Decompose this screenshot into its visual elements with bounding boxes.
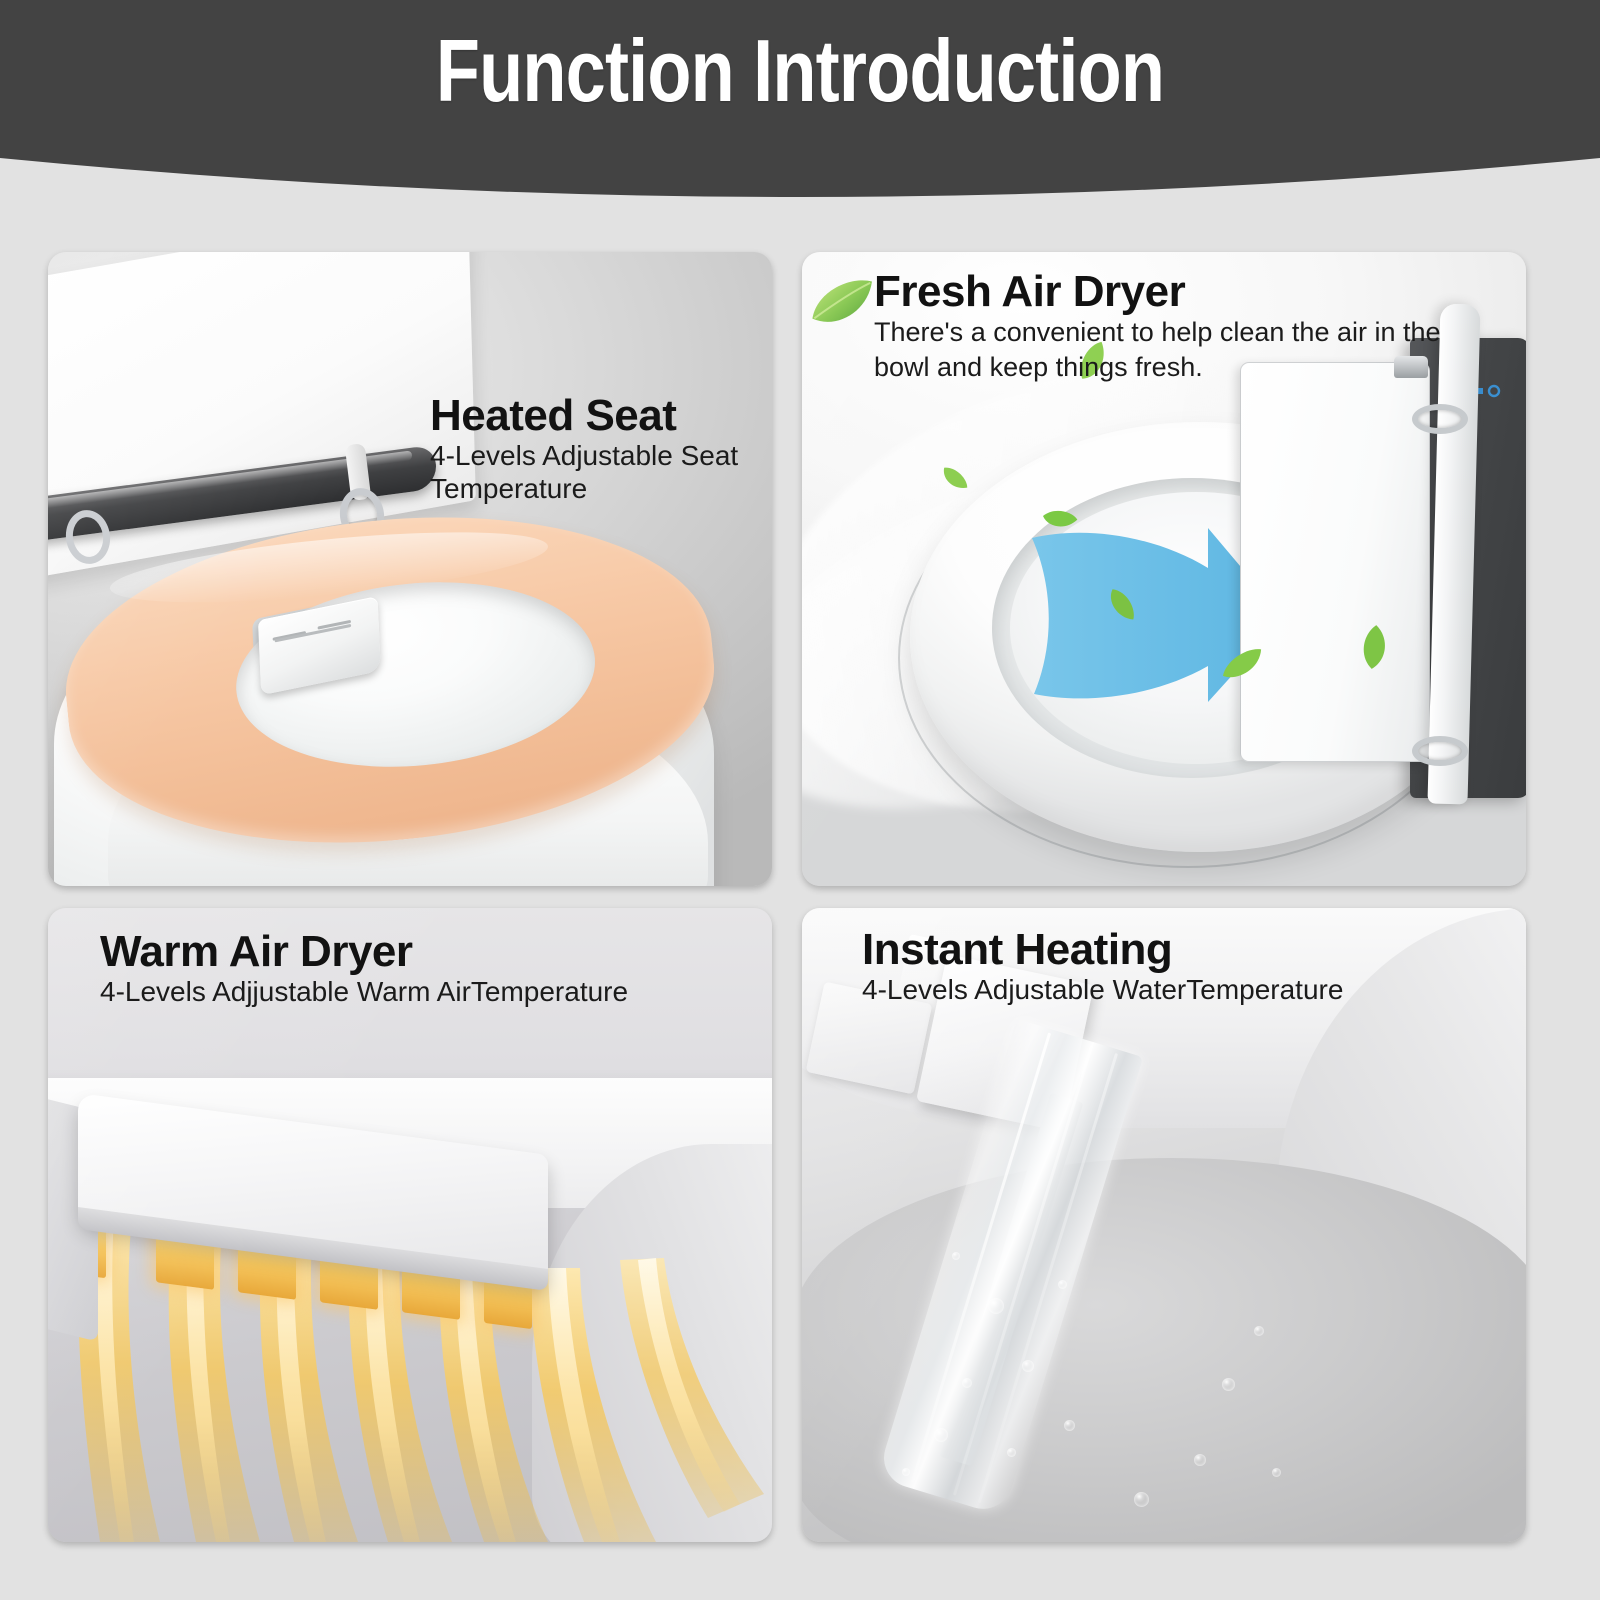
feature-panel-fresh-air-dryer[interactable]: Fresh Air Dryer There's a convenient to … bbox=[802, 252, 1526, 886]
water-droplet-7 bbox=[902, 1468, 910, 1476]
fresh-air-dryer-subtitle: There's a convenient to help clean the a… bbox=[874, 315, 1474, 385]
page-header: Function Introduction bbox=[0, 0, 1600, 220]
feature-panel-warm-air-dryer[interactable]: Warm Air Dryer 4-Levels Adjjustable Warm… bbox=[48, 908, 772, 1542]
nozzle-slit-1 bbox=[273, 631, 306, 641]
water-droplet-6 bbox=[1064, 1420, 1075, 1431]
water-droplet-9 bbox=[1254, 1326, 1264, 1336]
water-droplet-3 bbox=[962, 1378, 972, 1388]
nozzle-slit-2 bbox=[318, 620, 351, 630]
fresh-air-dryer-caption: Fresh Air Dryer There's a convenient to … bbox=[874, 270, 1474, 385]
water-droplet-2 bbox=[1022, 1360, 1034, 1372]
feature-panel-instant-heating[interactable]: Instant Heating 4-Levels Adjustable Wate… bbox=[802, 908, 1526, 1542]
water-droplet-11 bbox=[1134, 1492, 1149, 1507]
hinge-ring-top-icon bbox=[1412, 404, 1468, 434]
leaf-icon-7 bbox=[1356, 622, 1393, 671]
water-droplet-13 bbox=[1058, 1280, 1067, 1289]
hinge-ring-bottom-icon bbox=[1412, 736, 1468, 766]
page-title: Function Introduction bbox=[144, 22, 1456, 121]
instant-heating-caption: Instant Heating 4-Levels Adjustable Wate… bbox=[862, 928, 1482, 1006]
warm-air-dryer-title: Warm Air Dryer bbox=[100, 930, 740, 975]
heated-seat-subtitle: 4-Levels Adjustable Seat Temperature bbox=[430, 439, 760, 505]
water-droplet-14 bbox=[952, 1252, 960, 1260]
heated-seat-title: Heated Seat bbox=[430, 394, 760, 439]
lid-panel-face-graphic bbox=[1240, 362, 1430, 762]
water-droplet-4 bbox=[934, 1428, 948, 1442]
instant-heating-title: Instant Heating bbox=[862, 928, 1482, 973]
feature-panel-heated-seat[interactable]: Heated Seat 4-Levels Adjustable Seat Tem… bbox=[48, 252, 772, 886]
fresh-air-dryer-title: Fresh Air Dryer bbox=[874, 270, 1474, 315]
water-droplet-12 bbox=[1272, 1468, 1281, 1477]
heated-seat-caption: Heated Seat 4-Levels Adjustable Seat Tem… bbox=[430, 394, 760, 505]
leaf-icon-1 bbox=[804, 275, 882, 333]
water-droplet-10 bbox=[1194, 1454, 1206, 1466]
water-droplet-1 bbox=[988, 1298, 1004, 1314]
water-droplet-8 bbox=[1222, 1378, 1235, 1391]
water-droplet-5 bbox=[1007, 1448, 1016, 1457]
feature-grid: Heated Seat 4-Levels Adjustable Seat Tem… bbox=[48, 252, 1552, 1550]
instant-heating-subtitle: 4-Levels Adjustable WaterTemperature bbox=[862, 973, 1482, 1006]
power-indicator-icon bbox=[1478, 384, 1504, 398]
warm-air-dryer-subtitle: 4-Levels Adjjustable Warm AirTemperature bbox=[100, 975, 740, 1008]
warm-air-dryer-caption: Warm Air Dryer 4-Levels Adjjustable Warm… bbox=[100, 930, 740, 1008]
